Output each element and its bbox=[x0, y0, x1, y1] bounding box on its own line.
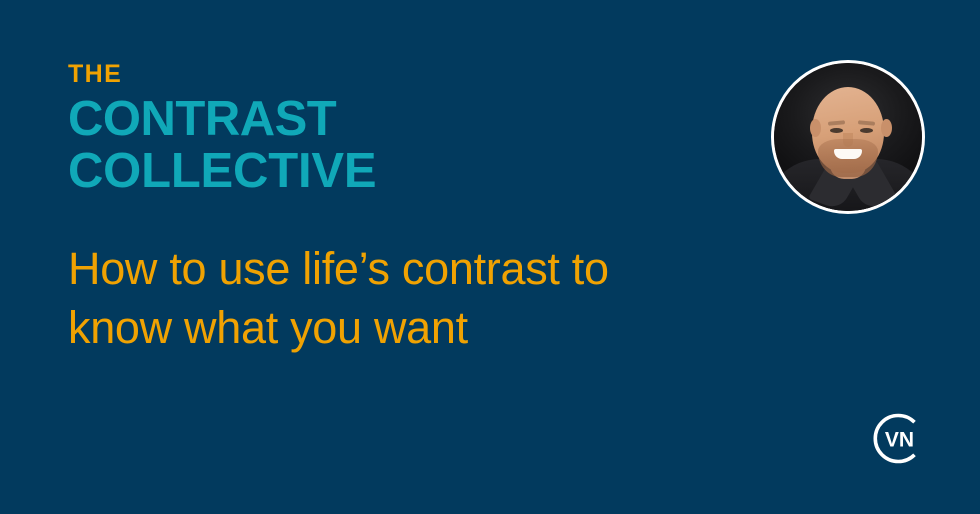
vn-logo-icon: VN bbox=[869, 409, 928, 468]
promo-slide: THE CONTRAST COLLECTIVE How to use life’… bbox=[0, 0, 980, 514]
brand-name-line-1: CONTRAST bbox=[68, 96, 708, 143]
avatar-smile bbox=[834, 149, 862, 159]
avatar-eye-right bbox=[860, 128, 873, 133]
avatar-eye-left bbox=[830, 128, 843, 133]
avatar bbox=[771, 60, 925, 214]
headline-line-1: How to use life’s contrast to bbox=[68, 239, 768, 298]
vn-logo: VN bbox=[869, 409, 928, 468]
avatar-ear-right bbox=[881, 119, 892, 137]
brand-name-line-2: COLLECTIVE bbox=[68, 148, 708, 195]
avatar-ear-left bbox=[810, 119, 821, 137]
vn-logo-text: VN bbox=[885, 429, 914, 452]
page-title: How to use life’s contrast to know what … bbox=[68, 239, 768, 358]
avatar-photo bbox=[774, 63, 922, 211]
brand-lockup: THE CONTRAST COLLECTIVE bbox=[68, 62, 708, 194]
brand-eyebrow: THE bbox=[68, 62, 708, 87]
headline-line-2: know what you want bbox=[68, 298, 768, 357]
